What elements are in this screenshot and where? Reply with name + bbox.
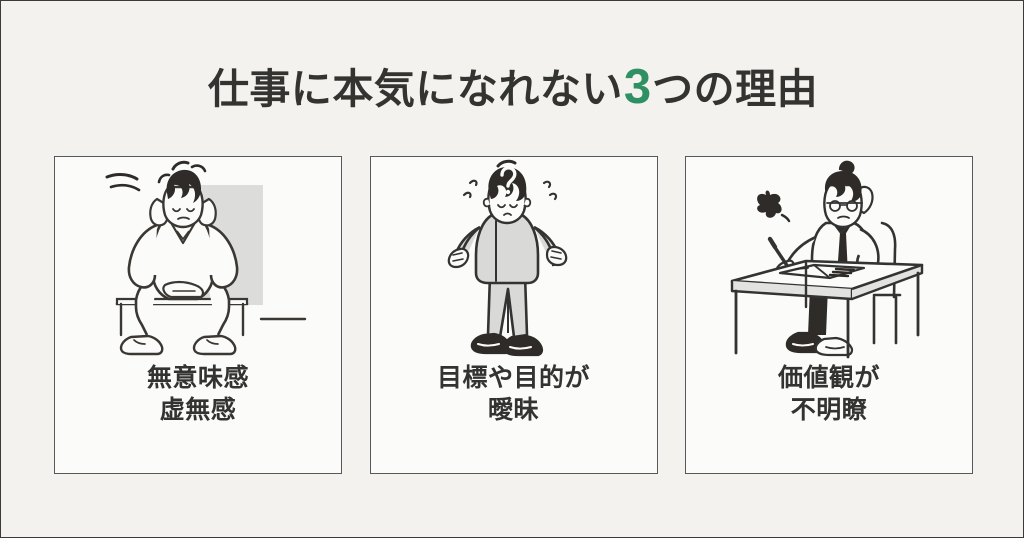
reason-card-label: 無意味感 虚無感	[55, 362, 341, 426]
reason-card-label: 価値観が 不明瞭	[686, 362, 972, 426]
reason-card-label-line2: 曖昧	[371, 394, 657, 426]
page-title-accent-number: 3	[623, 60, 652, 114]
reason-card-label-line2: 虚無感	[55, 394, 341, 426]
person-shrugging-with-question-mark-illustration	[371, 157, 657, 362]
reason-card-label: 目標や目的が 曖昧	[371, 362, 657, 426]
page-title-text-leading: 仕事に本気になれない	[208, 66, 623, 112]
page-title-text-trailing: つの理由	[652, 66, 818, 112]
reason-card-unclear-goals[interactable]: 目標や目的が 曖昧	[370, 156, 658, 474]
reason-card-meaninglessness[interactable]: 無意味感 虚無感	[54, 156, 342, 474]
reason-card-label-line1: 無意味感	[55, 362, 341, 394]
reason-card-unclear-values[interactable]: 価値観が 不明瞭	[685, 156, 973, 474]
reason-card-label-line1: 価値観が	[686, 362, 972, 394]
reason-card-label-line2: 不明瞭	[686, 394, 972, 426]
infographic-canvas: 仕事に本気になれない3つの理由	[0, 0, 1024, 538]
reason-card-row: 無意味感 虚無感	[54, 156, 973, 474]
person-head-in-hands-on-bench-illustration	[55, 157, 341, 362]
page-title: 仕事に本気になれない3つの理由	[1, 59, 1024, 115]
person-at-desk-scratching-head-illustration	[686, 157, 972, 362]
reason-card-label-line1: 目標や目的が	[371, 362, 657, 394]
